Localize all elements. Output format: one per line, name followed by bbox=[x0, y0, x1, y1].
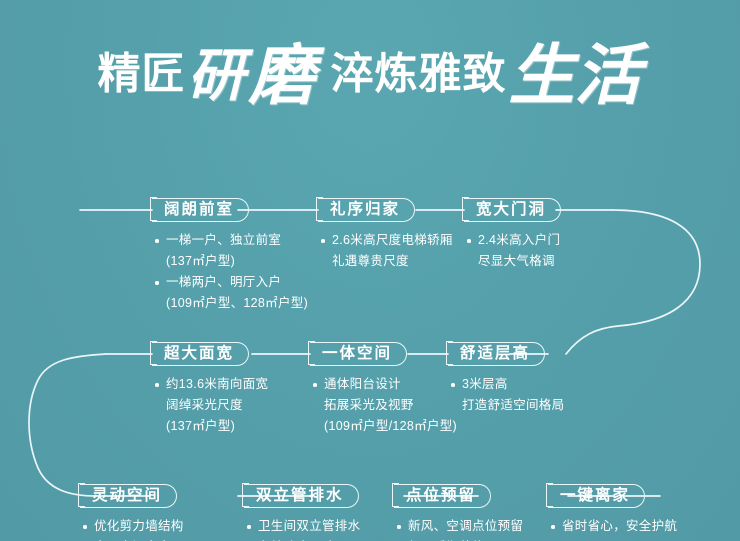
headline-part-5: 生活 bbox=[509, 36, 641, 114]
list-item: 卫生间双立管排水 bbox=[244, 517, 360, 536]
feature-title: 超大面宽 bbox=[152, 342, 249, 366]
feature-title: 舒适层高 bbox=[448, 342, 545, 366]
list-item: 优化剪力墙结构 bbox=[80, 517, 184, 536]
headline-part-1: 精匠 bbox=[98, 51, 186, 99]
feature-bullets: 3米层高 打造舒适空间格局 bbox=[448, 375, 564, 415]
feature-title: 阔朗前室 bbox=[152, 198, 249, 222]
feature-node-lixuguijia: 礼序归家 2.6米高尺度电梯轿厢 礼遇尊贵尺度 bbox=[318, 198, 453, 273]
page-title: 精匠研磨淬炼雅致生活 bbox=[0, 42, 740, 108]
feature-bullets: 2.6米高尺度电梯轿厢 礼遇尊贵尺度 bbox=[318, 231, 453, 271]
feature-title: 宽大门洞 bbox=[464, 198, 561, 222]
curve-left-uturn bbox=[29, 354, 106, 496]
list-item: (109㎡户型、128㎡户型) bbox=[152, 294, 308, 313]
list-item: 3米层高 bbox=[448, 375, 564, 394]
feature-node-kuolangqianshi: 阔朗前室 一梯一户、独立前室 (137㎡户型) 一梯两户、明厅入户 (109㎡户… bbox=[152, 198, 308, 315]
feature-node-dianweiyuliu: 点位预留 新风、空调点位预留 便于后期装修 bbox=[394, 484, 523, 541]
list-item: 拓展采光及视野 bbox=[310, 396, 457, 415]
list-item: (137㎡户型) bbox=[152, 417, 268, 436]
feature-node-kuandamendong: 宽大门洞 2.4米高入户门 尽显大气格调 bbox=[464, 198, 561, 273]
feature-node-lingdongkongjian: 灵动空间 优化剪力墙结构 实现空间多变 bbox=[80, 484, 184, 541]
list-item: (109㎡户型/128㎡户型) bbox=[310, 417, 457, 436]
feature-title: 礼序归家 bbox=[318, 198, 415, 222]
list-item: 2.4米高入户门 bbox=[464, 231, 561, 250]
list-item: 新风、空调点位预留 bbox=[394, 517, 523, 536]
feature-bullets: 省时省心，安全护航 bbox=[548, 517, 677, 536]
feature-title: 双立管排水 bbox=[244, 484, 359, 508]
list-item: 尽显大气格调 bbox=[464, 252, 561, 271]
headline-part-4: 淬炼雅致 bbox=[331, 51, 507, 99]
feature-title: 灵动空间 bbox=[80, 484, 177, 508]
feature-node-shushicenggao: 舒适层高 3米层高 打造舒适空间格局 bbox=[448, 342, 564, 417]
list-item: 一梯一户、独立前室 bbox=[152, 231, 308, 250]
feature-node-chaodamiankuan: 超大面宽 约13.6米南向面宽 阔绰采光尺度 (137㎡户型) bbox=[152, 342, 268, 438]
list-item: 阔绰采光尺度 bbox=[152, 396, 268, 415]
feature-bullets: 通体阳台设计 拓展采光及视野 (109㎡户型/128㎡户型) bbox=[310, 375, 457, 436]
feature-bullets: 卫生间双立管排水 有效防止异味 bbox=[244, 517, 360, 541]
feature-node-shuanglipaishui: 双立管排水 卫生间双立管排水 有效防止异味 bbox=[244, 484, 360, 541]
list-item: 通体阳台设计 bbox=[310, 375, 457, 394]
poster-root: 精匠研磨淬炼雅致生活 阔朗前室 bbox=[0, 0, 740, 541]
list-item: 一梯两户、明厅入户 bbox=[152, 273, 308, 292]
feature-bullets: 约13.6米南向面宽 阔绰采光尺度 (137㎡户型) bbox=[152, 375, 268, 436]
feature-title: 一体空间 bbox=[310, 342, 407, 366]
curve-right-uturn bbox=[566, 210, 700, 354]
feature-node-yitikongjian: 一体空间 通体阳台设计 拓展采光及视野 (109㎡户型/128㎡户型) bbox=[310, 342, 457, 438]
headline-part-2: 研 bbox=[188, 42, 245, 109]
feature-title: 一键离家 bbox=[548, 484, 645, 508]
feature-bullets: 新风、空调点位预留 便于后期装修 bbox=[394, 517, 523, 541]
list-item: (137㎡户型) bbox=[152, 252, 308, 271]
list-item: 约13.6米南向面宽 bbox=[152, 375, 268, 394]
feature-title: 点位预留 bbox=[394, 484, 491, 508]
list-item: 省时省心，安全护航 bbox=[548, 517, 677, 536]
list-item: 礼遇尊贵尺度 bbox=[318, 252, 453, 271]
list-item: 打造舒适空间格局 bbox=[448, 396, 564, 415]
list-item: 2.6米高尺度电梯轿厢 bbox=[318, 231, 453, 250]
headline-part-3: 磨 bbox=[249, 36, 315, 114]
feature-bullets: 2.4米高入户门 尽显大气格调 bbox=[464, 231, 561, 271]
feature-bullets: 优化剪力墙结构 实现空间多变 bbox=[80, 517, 184, 541]
feature-node-yijianlijia: 一键离家 省时省心，安全护航 bbox=[548, 484, 677, 538]
feature-bullets: 一梯一户、独立前室 (137㎡户型) 一梯两户、明厅入户 (109㎡户型、128… bbox=[152, 231, 308, 313]
